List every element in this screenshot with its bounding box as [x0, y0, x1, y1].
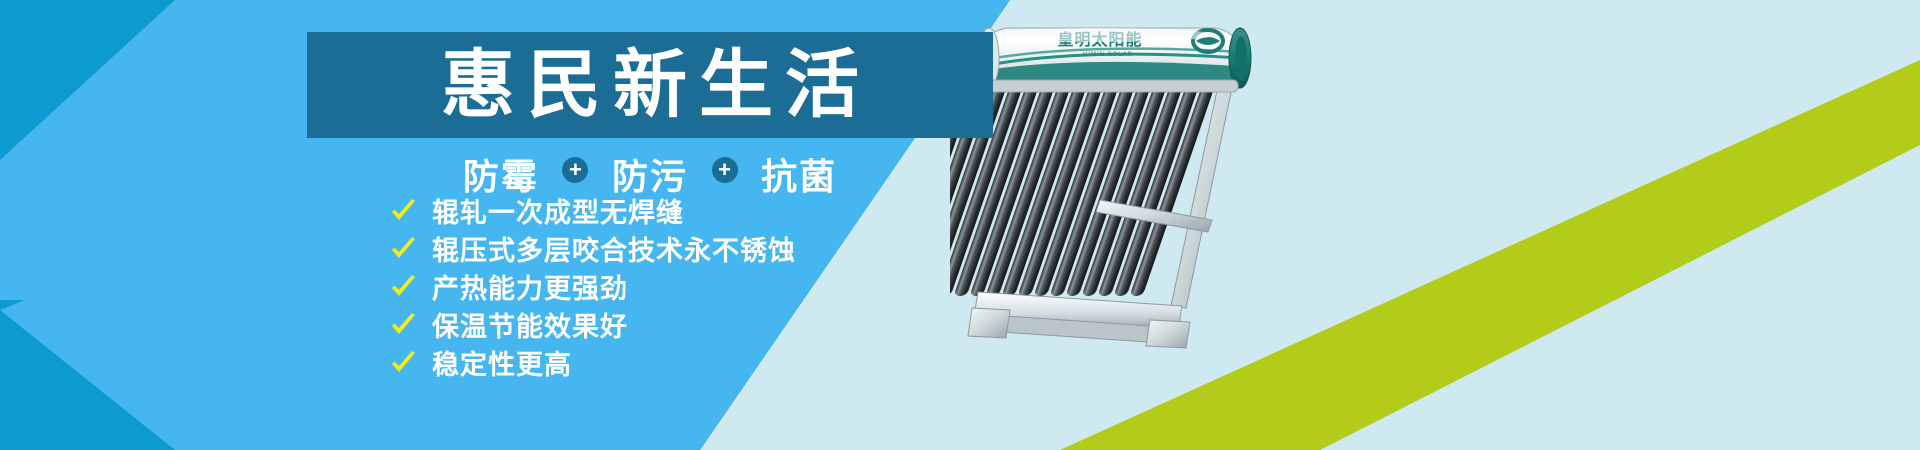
list-item: 辊压式多层咬合技术永不锈蚀: [388, 230, 796, 267]
frame-rear-foot: [1146, 320, 1190, 348]
list-item-label: 辊压式多层咬合技术永不锈蚀: [432, 229, 796, 268]
tank-header-strip: [986, 80, 1238, 92]
check-icon: [388, 197, 418, 227]
list-item-label: 辊轧一次成型无焊缝: [432, 191, 684, 230]
tank-end-cap-right-inner: [1235, 36, 1247, 80]
list-item-label: 稳定性更高: [432, 343, 572, 382]
plus-badge-icon: +: [562, 157, 588, 183]
list-item: 保温节能效果好: [388, 306, 796, 343]
list-item-label: 产热能力更强劲: [432, 267, 628, 306]
headline-plate: 惠民新生活: [307, 32, 993, 138]
promo-banner: 惠民新生活 防霉 + 防污 + 抗菌 辊轧一次成型无焊缝 辊压式多层咬合技术永不…: [0, 0, 1920, 450]
check-icon: [388, 311, 418, 341]
check-icon: [388, 349, 418, 379]
solar-water-heater-image: 皇明太阳能 HIMIN SOLAR: [950, 8, 1290, 368]
list-item: 产热能力更强劲: [388, 268, 796, 305]
tank-gloss: [985, 28, 1215, 42]
storage-tank: 皇明太阳能 HIMIN SOLAR: [979, 28, 1251, 92]
feature-list: 辊轧一次成型无焊缝 辊压式多层咬合技术永不锈蚀 产热能力更强劲 保温节能效果好: [388, 192, 796, 382]
plus-badge-icon: +: [712, 157, 738, 183]
tank-brand-subtext: HIMIN SOLAR: [1083, 52, 1133, 58]
check-icon: [388, 273, 418, 303]
list-item-label: 保温节能效果好: [432, 305, 628, 344]
list-item: 稳定性更高: [388, 344, 796, 381]
frame-front-foot: [968, 308, 1010, 338]
list-item: 辊轧一次成型无焊缝: [388, 192, 796, 229]
page-title: 惠民新生活: [307, 32, 993, 138]
check-icon: [388, 235, 418, 265]
